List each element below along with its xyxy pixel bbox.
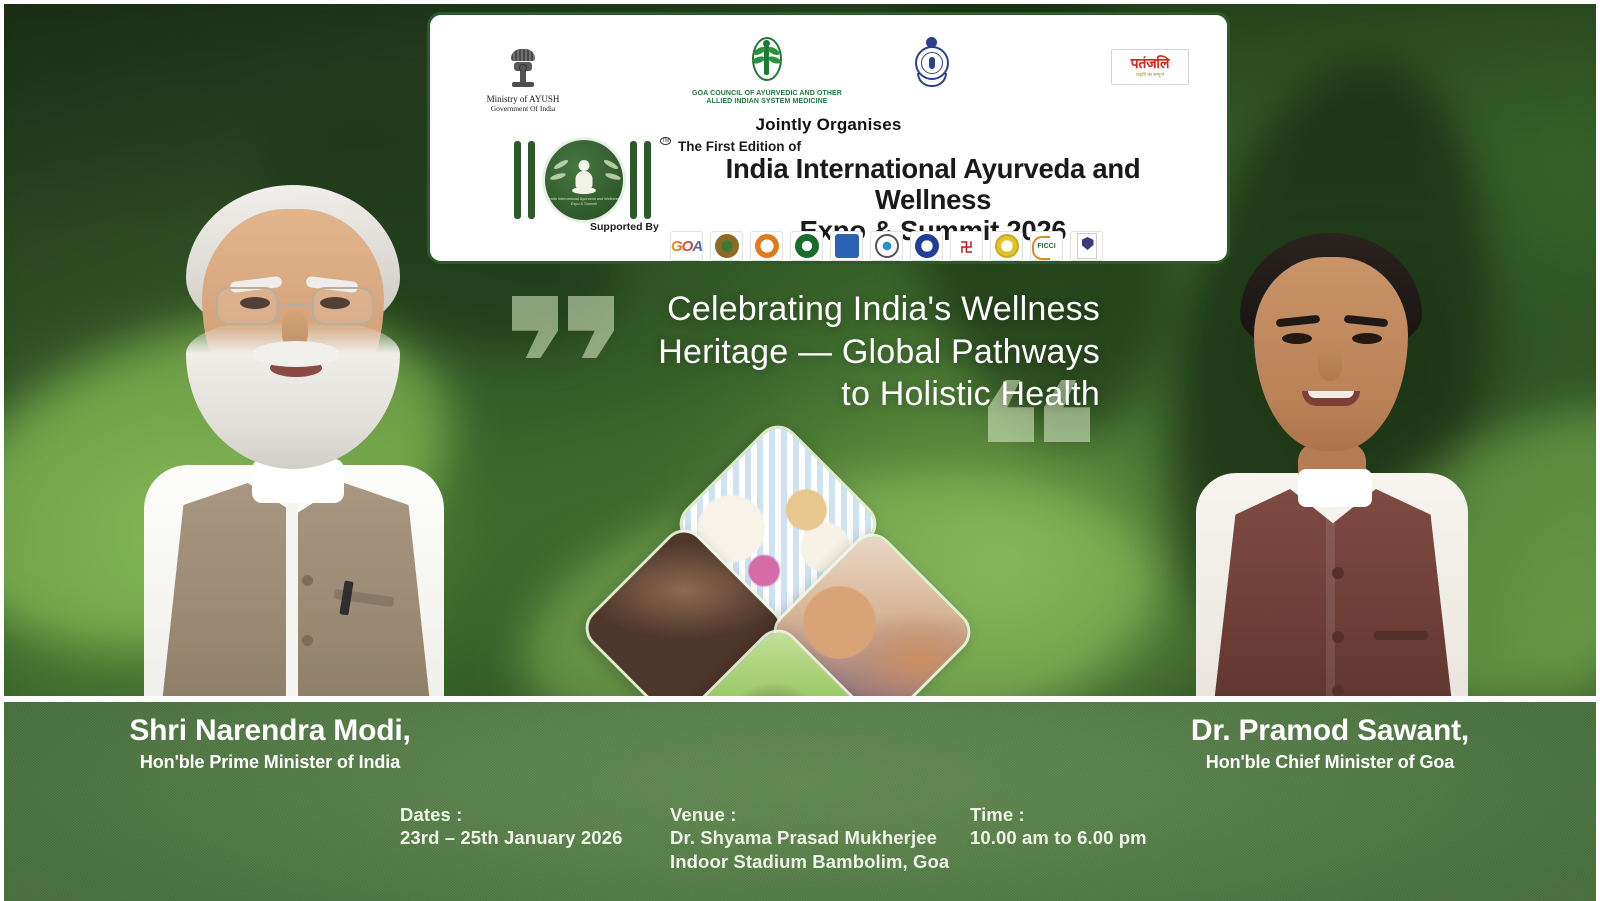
venue-label: Venue : [670,804,970,826]
ministry-of-ayush-logo: Ministry of AYUSH Government Of India [448,49,598,113]
dates-label: Dates : [400,804,670,826]
time-block: Time : 10.00 am to 6.00 pm [970,804,1270,875]
goa-council-label-line2: ALLIED INDIAN SYSTEM MEDICINE [652,98,882,106]
frame-top [0,0,1600,4]
goa-state-seal-icon [909,37,955,89]
band-gap-left [0,696,540,702]
event-emblem-icon: India International Ayurveda and Wellnes… [542,137,626,223]
frame-right [1596,0,1600,901]
tagline-line-2: Heritage — Global Pathways [560,331,1100,374]
supporter-shield-logo [1070,231,1103,261]
goa-chamber-commerce-logo [830,231,863,261]
event-details: Dates : 23rd – 25th January 2026 Venue :… [400,804,1270,875]
event-logo-lockup: India International Ayurveda and Wellnes… [508,135,668,227]
supporter-seal-blue [910,231,943,261]
event-title-line-1: India International Ayurveda and Wellnes… [668,153,1198,215]
dignitary-right: Dr. Pramod Sawant, Hon'ble Chief Ministe… [1060,714,1600,773]
event-emblem-label: India International Ayurveda and Wellnes… [545,197,623,207]
trademark-icon: TM [660,137,671,144]
dignitary-left-name: Shri Narendra Modi, [0,714,540,748]
supporter-seal-red-swastik: 卍 [950,231,983,261]
details-band: Shri Narendra Modi, Hon'ble Prime Minist… [0,702,1600,901]
band-gap-right [1060,696,1600,702]
first-edition-label: The First Edition of [678,139,801,154]
supporter-logo-row: GOA 卍 FICCI [670,231,1103,261]
header-panel: Ministry of AYUSH Government Of India GO… [427,12,1230,264]
dates-block: Dates : 23rd – 25th January 2026 [400,804,670,875]
dignitary-left-designation: Hon'ble Prime Minister of India [0,752,540,773]
dignitary-left: Shri Narendra Modi, Hon'ble Prime Minist… [0,714,540,773]
ministry-of-ayush-sublabel: Government Of India [448,105,598,114]
ficci-logo: FICCI [1030,231,1063,261]
supporter-seal-darkgreen [790,231,823,261]
ashoka-emblem-icon [508,49,538,91]
goa-tourism-logo: GOA [670,231,703,261]
dates-value: 23rd – 25th January 2026 [400,826,670,850]
supporter-seal-white [870,231,903,261]
event-tagline: Celebrating India's Wellness Heritage — … [560,288,1100,416]
supporter-seal-yellow [990,231,1023,261]
tagline-line-1: Celebrating India's Wellness [560,288,1100,331]
goa-council-ayurvedic-logo: GOA COUNCIL OF AYURVEDIC AND OTHER ALLIE… [652,37,882,107]
event-poster: Celebrating India's Wellness Heritage — … [0,0,1600,901]
patanjali-text: पतंजलि [1131,56,1170,70]
dignitary-right-name: Dr. Pramod Sawant, [1060,714,1600,748]
venue-value-line-2: Indoor Stadium Bambolim, Goa [670,850,970,874]
patanjali-subtext: प्रकृति का सम्पूर्ण [1136,72,1164,78]
supported-by-label: Supported By [590,221,659,233]
jointly-organises-label: Jointly Organises [430,115,1227,135]
organiser-logo-row: Ministry of AYUSH Government Of India GO… [430,35,1227,107]
time-value: 10.00 am to 6.00 pm [970,826,1270,850]
portrait-pramod-sawant [1122,233,1542,703]
ayurvedic-plant-icon [744,37,790,87]
tagline-line-3: to Holistic Health [560,373,1100,416]
venue-value-line-1: Dr. Shyama Prasad Mukherjee [670,826,970,850]
government-of-goa-seal [882,37,982,89]
time-label: Time : [970,804,1270,826]
frame-left [0,0,4,901]
supporter-seal-gold [710,231,743,261]
dignitary-right-designation: Hon'ble Chief Minister of Goa [1060,752,1600,773]
venue-block: Venue : Dr. Shyama Prasad Mukherjee Indo… [670,804,970,875]
patanjali-wordmark-icon: पतंजलि प्रकृति का सम्पूर्ण [1111,49,1189,85]
goa-council-label-line1: GOA COUNCIL OF AYURVEDIC AND OTHER [652,90,882,98]
patanjali-logo: पतंजलि प्रकृति का सम्पूर्ण [1090,49,1210,85]
supporter-seal-orange [750,231,783,261]
